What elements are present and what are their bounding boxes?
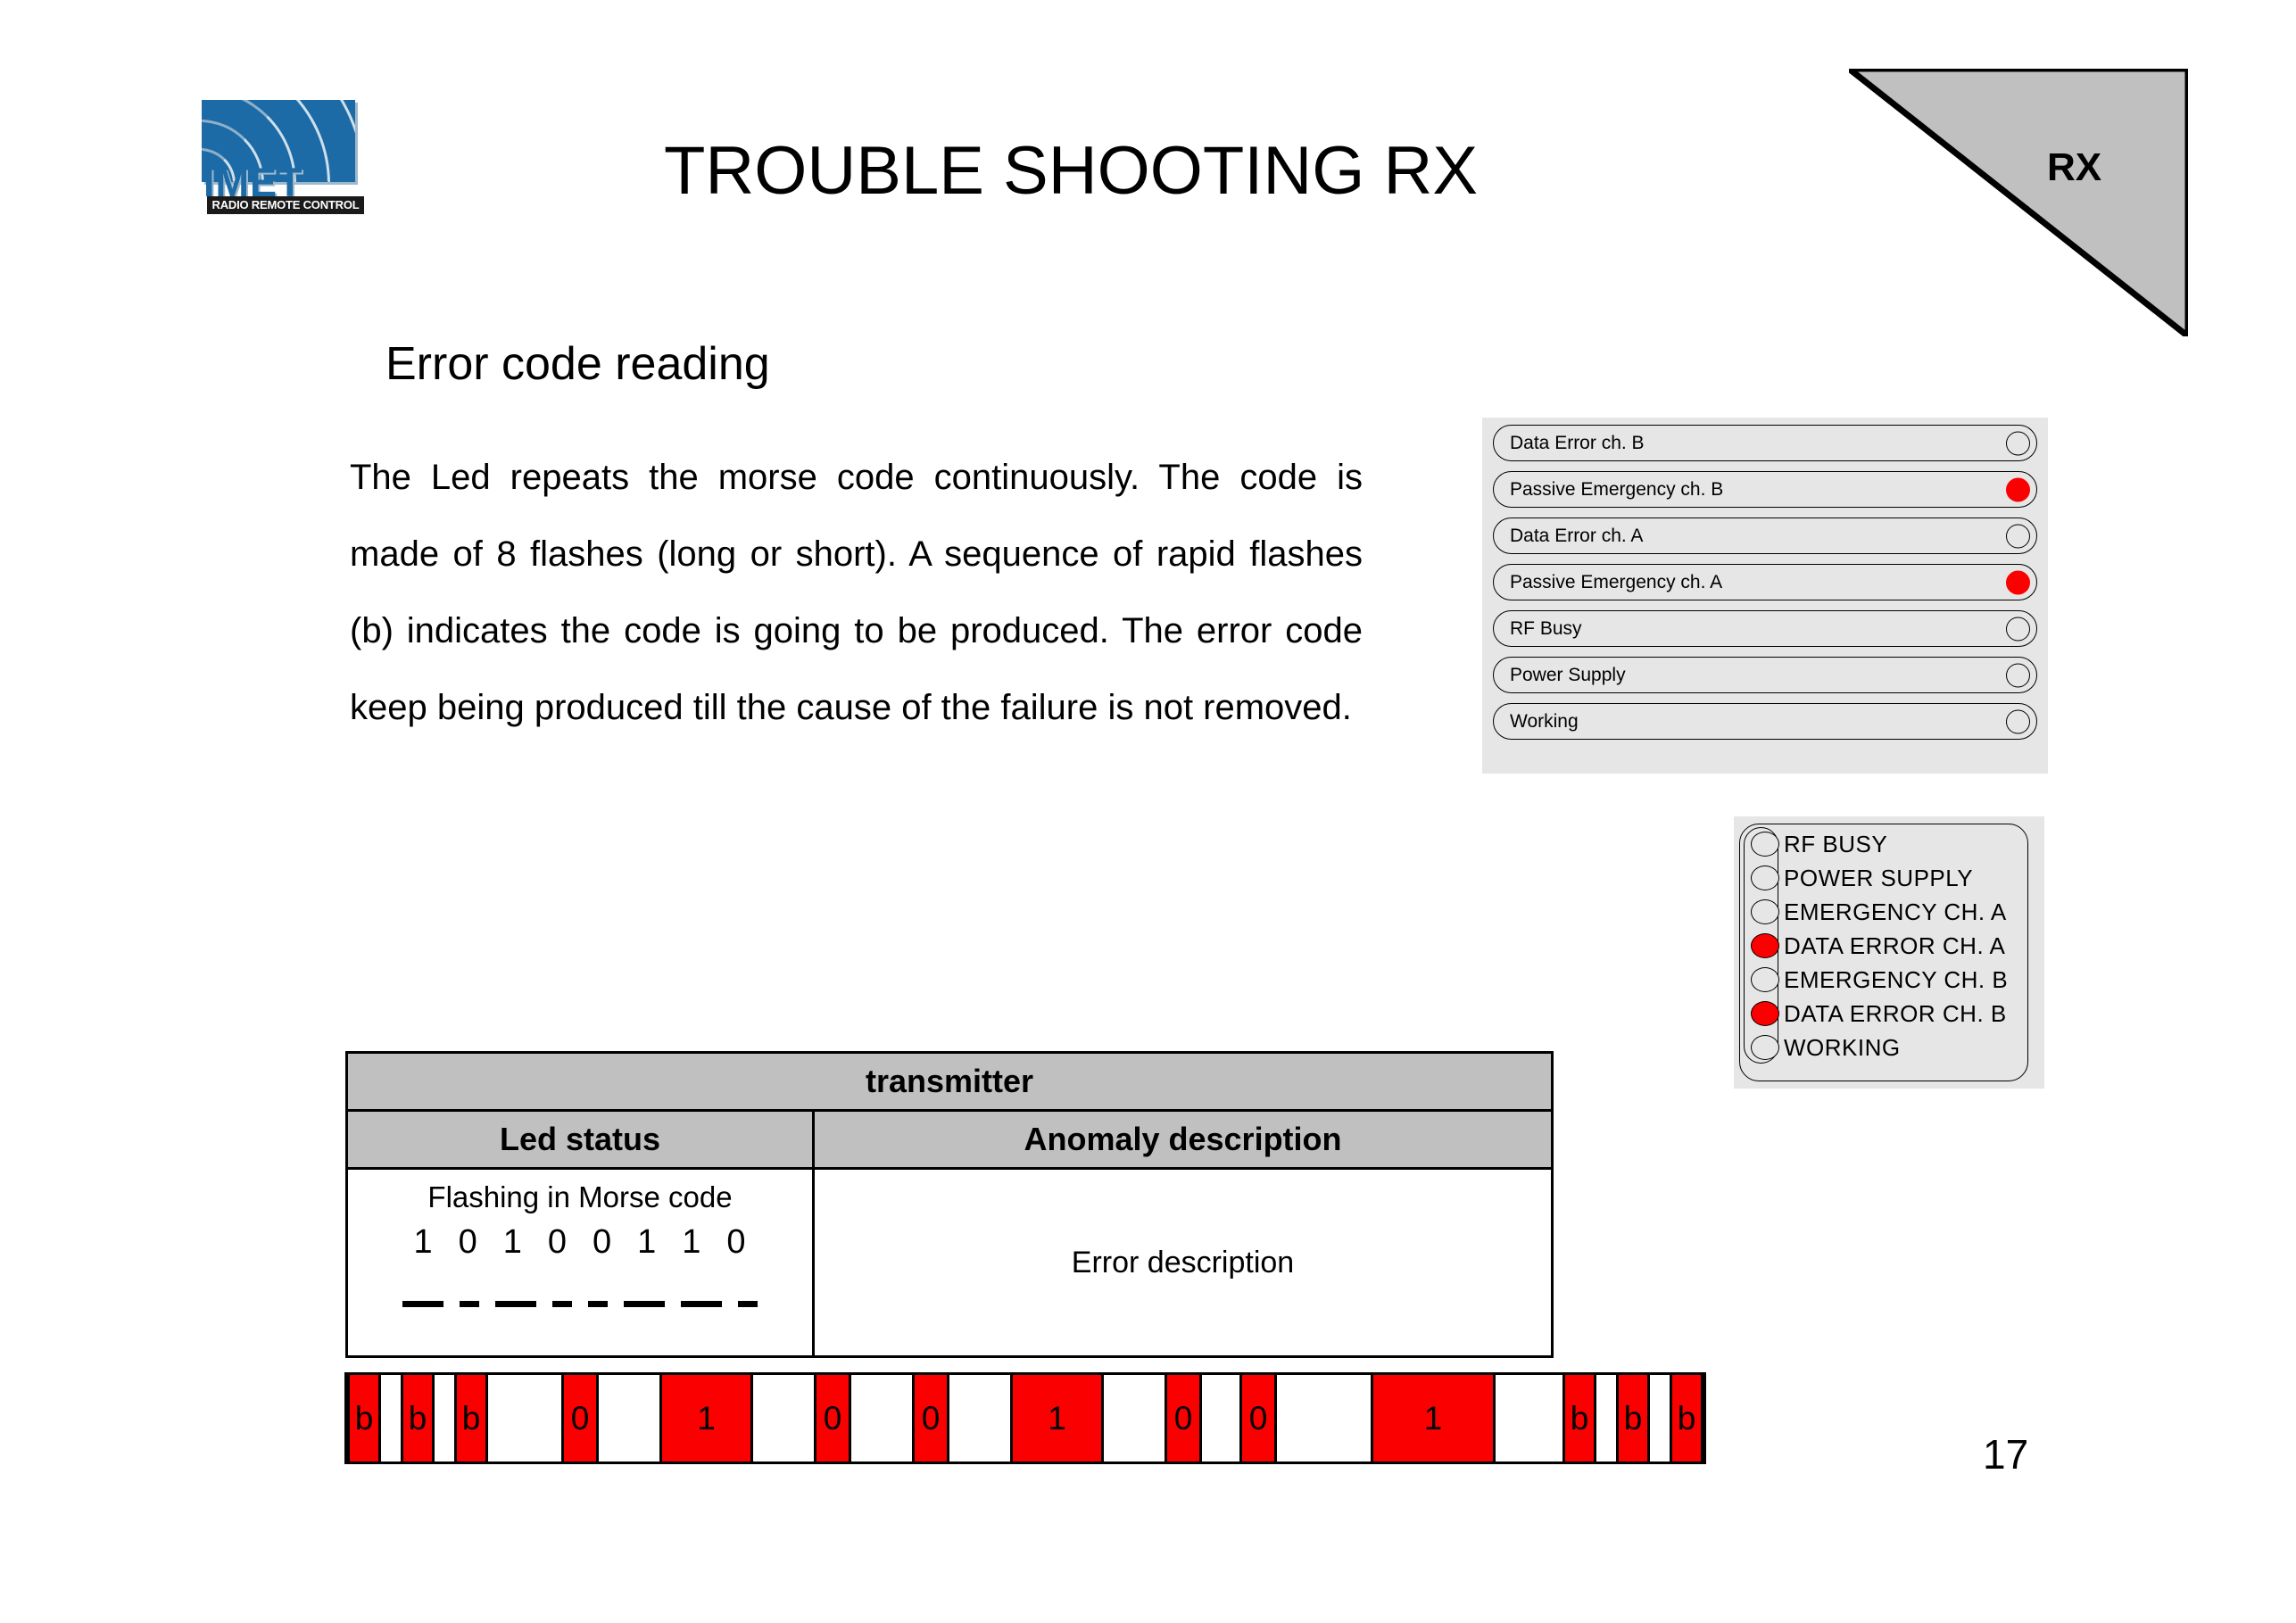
- led-row: Passive Emergency ch. B: [1493, 471, 2037, 508]
- bit-sequence: 10100110: [348, 1223, 812, 1262]
- led-row-label: WORKING: [1784, 1034, 1901, 1062]
- timing-pulse-high: 0: [912, 1375, 949, 1462]
- morse-short-mark-icon: [738, 1301, 758, 1307]
- corner-triangle-outline-icon: [1849, 69, 2188, 336]
- timing-pulse-high: b: [1670, 1375, 1703, 1462]
- bit-value: 0: [593, 1223, 612, 1262]
- led-row: Data Error ch. A: [1493, 518, 2037, 554]
- bit-value: 1: [682, 1223, 701, 1262]
- timing-pulse-high: 0: [814, 1375, 851, 1462]
- bit-value: 1: [413, 1223, 433, 1262]
- led-row-label: POWER SUPPLY: [1784, 865, 1973, 892]
- flash-caption: Flashing in Morse code: [348, 1180, 812, 1214]
- cell-led-status: Flashing in Morse code 10100110: [348, 1170, 815, 1355]
- timing-pulse-low: [1104, 1375, 1165, 1462]
- led-row: WORKING: [1739, 1031, 2034, 1064]
- morse-short-mark-icon: [460, 1301, 479, 1307]
- led-row: Working: [1493, 703, 2037, 740]
- led-row: EMERGENCY CH. A: [1739, 895, 2034, 929]
- section-subhead: Error code reading: [385, 337, 770, 391]
- cell-anomaly-description: Error description: [815, 1170, 1551, 1355]
- morse-short-mark-icon: [552, 1301, 572, 1307]
- table-title: transmitter: [348, 1054, 1551, 1112]
- morse-long-mark-icon: [624, 1301, 665, 1307]
- led-row: DATA ERROR CH. B: [1739, 997, 2034, 1031]
- led-indicator-icon: [1751, 933, 1779, 958]
- timing-pulse-low: [435, 1375, 454, 1462]
- rx-badge-label: RX: [2047, 145, 2101, 190]
- rx-corner-badge: RX: [1849, 69, 2188, 336]
- timing-pulse-low: [851, 1375, 912, 1462]
- led-status-panel-horizontal: Data Error ch. BPassive Emergency ch. BD…: [1482, 418, 2048, 774]
- transmitter-table: transmitter Led status Anomaly descripti…: [345, 1051, 1554, 1358]
- timing-pulse-low: [949, 1375, 1010, 1462]
- led-row: Data Error ch. B: [1493, 425, 2037, 461]
- morse-sequence: [348, 1301, 812, 1307]
- led-row: DATA ERROR CH. A: [1739, 929, 2034, 963]
- led-indicator-icon: [2006, 570, 2030, 594]
- timing-pulse-low: [1277, 1375, 1371, 1462]
- timing-pulse-high: b: [347, 1375, 381, 1462]
- led-indicator-icon: [2006, 663, 2030, 687]
- led-row-label: Power Supply: [1510, 665, 1626, 686]
- led-row: Passive Emergency ch. A: [1493, 564, 2037, 600]
- timing-pulse-high: b: [1616, 1375, 1650, 1462]
- timing-pulse-high: b: [1562, 1375, 1596, 1462]
- timing-pulse-low: [1496, 1375, 1562, 1462]
- led-row-label: EMERGENCY CH. A: [1784, 898, 2007, 926]
- timing-pulse-low: [488, 1375, 561, 1462]
- timing-pulse-low: [1202, 1375, 1239, 1462]
- led-indicator-icon: [2006, 477, 2030, 501]
- timing-pulse-high: b: [401, 1375, 435, 1462]
- led-row: POWER SUPPLY: [1739, 861, 2034, 895]
- led-indicator-icon: [1751, 1035, 1779, 1060]
- led-indicator-icon: [1751, 865, 1779, 890]
- timing-pulse-low: [1596, 1375, 1616, 1462]
- timing-pulse-low: [1650, 1375, 1670, 1462]
- bit-value: 0: [548, 1223, 568, 1262]
- led-row: EMERGENCY CH. B: [1739, 963, 2034, 997]
- timing-pulse-low: [599, 1375, 659, 1462]
- bit-value: 1: [503, 1223, 523, 1262]
- led-row-label: Data Error ch. A: [1510, 526, 1643, 547]
- logo-tagline: RADIO REMOTE CONTROL: [207, 196, 364, 214]
- led-indicator-icon: [1751, 899, 1779, 924]
- led-row-label: Data Error ch. B: [1510, 433, 1645, 454]
- imet-logo: IMET RADIO REMOTE CONTROL: [195, 100, 366, 207]
- led-indicator-icon: [1751, 1001, 1779, 1026]
- led-indicator-icon: [1751, 832, 1779, 857]
- table-header-row: Led status Anomaly description: [348, 1112, 1551, 1170]
- morse-long-mark-icon: [681, 1301, 722, 1307]
- bit-value: 0: [459, 1223, 478, 1262]
- bit-value: 0: [726, 1223, 746, 1262]
- led-row-label: Passive Emergency ch. A: [1510, 572, 1722, 593]
- led-row-label: Passive Emergency ch. B: [1510, 479, 1723, 501]
- led-row-label: RF Busy: [1510, 618, 1582, 640]
- led-row-label: DATA ERROR CH. B: [1784, 1000, 2007, 1028]
- led-status-panel-vertical: RF BUSYPOWER SUPPLYEMERGENCY CH. ADATA E…: [1734, 816, 2044, 1089]
- timing-pulse-high: 0: [1239, 1375, 1277, 1462]
- timing-pulse-high: 0: [561, 1375, 599, 1462]
- led-row: RF Busy: [1493, 610, 2037, 647]
- led-list: RF BUSYPOWER SUPPLYEMERGENCY CH. ADATA E…: [1739, 827, 2034, 1064]
- timing-pulse-high: 1: [1371, 1375, 1496, 1462]
- column-header-anomaly: Anomaly description: [815, 1112, 1551, 1167]
- led-row-label: DATA ERROR CH. A: [1784, 932, 2005, 960]
- body-paragraph: The Led repeats the morse code continuou…: [350, 439, 1363, 746]
- timing-pulse-high: 1: [1010, 1375, 1104, 1462]
- table-row: Flashing in Morse code 10100110 Error de…: [348, 1170, 1551, 1355]
- morse-short-mark-icon: [588, 1301, 608, 1307]
- led-row: Power Supply: [1493, 657, 2037, 693]
- morse-long-mark-icon: [402, 1301, 443, 1307]
- timing-pulse-high: 0: [1165, 1375, 1202, 1462]
- led-indicator-icon: [2006, 709, 2030, 733]
- led-indicator-icon: [1751, 967, 1779, 992]
- morse-timing-strip: bbb01001001bbb: [344, 1372, 1706, 1464]
- timing-pulse-low: [381, 1375, 401, 1462]
- timing-pulse-low: [753, 1375, 814, 1462]
- led-indicator-icon: [2006, 431, 2030, 455]
- column-header-led-status: Led status: [348, 1112, 815, 1167]
- led-indicator-icon: [2006, 617, 2030, 641]
- page-title: TROUBLE SHOOTING RX: [464, 132, 1678, 210]
- led-row: RF BUSY: [1739, 827, 2034, 861]
- led-row-label: EMERGENCY CH. B: [1784, 966, 2008, 994]
- timing-pulse-high: b: [454, 1375, 488, 1462]
- bit-value: 1: [637, 1223, 657, 1262]
- led-row-label: RF BUSY: [1784, 831, 1887, 858]
- morse-long-mark-icon: [495, 1301, 536, 1307]
- led-row-label: Working: [1510, 711, 1579, 733]
- page-number: 17: [1983, 1430, 2028, 1478]
- led-indicator-icon: [2006, 524, 2030, 548]
- timing-pulse-high: 1: [659, 1375, 753, 1462]
